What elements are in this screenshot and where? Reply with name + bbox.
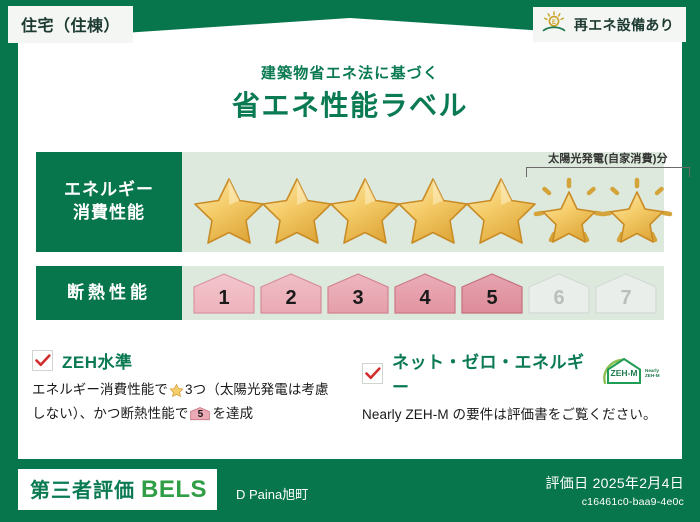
- star-filled: [394, 172, 460, 246]
- label-title: 省エネ性能ラベル: [0, 84, 700, 124]
- insulation-row-label: 断熱性能: [36, 266, 182, 320]
- insulation-row-value: 1 2 3: [182, 266, 664, 320]
- criteria-net-zero-energy: ネット・ゼロ・エネルギー ZEH-M Nearly ZEH-M Nearly Z…: [362, 348, 662, 426]
- criteria-nze-header: ネット・ゼロ・エネルギー ZEH-M Nearly ZEH-M: [362, 348, 662, 398]
- star-filled: [258, 172, 324, 246]
- third-party-label: 第三者評価: [30, 474, 135, 503]
- sun-renewable-icon: E: [541, 11, 567, 38]
- insulation-badge-2: 2: [259, 271, 323, 315]
- bels-energy-label: 住宅（住棟） E 再エネ設備あり 建築物省エネ法に基づく 省エネ性能ラベル: [0, 0, 700, 522]
- criteria-nze-body: Nearly ZEH-M の要件は評価書をご覧ください。: [362, 405, 662, 426]
- zeh-m-logo-text: ZEH-M: [611, 368, 638, 378]
- energy-row-label-line2: 消費性能: [64, 202, 154, 225]
- energy-row-label: エネルギー 消費性能: [36, 152, 182, 252]
- criteria-zeh-star-count: 3つ: [185, 382, 206, 397]
- insulation-badge-7: 7: [594, 271, 658, 315]
- inline-badge-value: 5: [190, 407, 210, 423]
- insulation-level-label: 6: [553, 287, 564, 315]
- energy-row-value: 太陽光発電(自家消費)分: [182, 152, 664, 252]
- criteria-zeh-title: ZEH水準: [62, 348, 133, 373]
- document-id: c16461c0-baa9-4e0c: [545, 496, 684, 508]
- insulation-level-label: 4: [419, 287, 430, 315]
- insulation-level-list: 1 2 3: [182, 266, 664, 320]
- label-subtitle: 建築物省エネ法に基づく: [0, 62, 700, 83]
- insulation-performance-row: 断熱性能 1 2: [36, 266, 664, 320]
- insulation-level-label: 7: [620, 287, 631, 315]
- criteria-nze-title: ネット・ゼロ・エネルギー: [392, 348, 586, 398]
- criteria-zeh-body-part1: エネルギー消費性能で: [32, 382, 168, 397]
- energy-row-label-line1: エネルギー: [64, 179, 154, 202]
- renewable-badge-label: 再エネ設備あり: [574, 15, 674, 35]
- criteria-zeh-body-part3: を達成: [212, 406, 253, 421]
- insulation-badge-4: 4: [393, 271, 457, 315]
- check-icon: [35, 354, 51, 367]
- building-name: D Paina旭町: [236, 484, 308, 503]
- insulation-level-label: 1: [218, 287, 229, 315]
- evaluation-date: 評価日 2025年2月4日: [545, 473, 684, 493]
- checkbox-zeh-standard[interactable]: [32, 350, 53, 371]
- star-filled: [190, 172, 256, 246]
- insulation-badge-6: 6: [527, 271, 591, 315]
- renewable-equipment-badge: E 再エネ設備あり: [533, 7, 686, 42]
- criteria-zeh-standard: ZEH水準 エネルギー消費性能で3つ（太陽光発電は考慮しない）、かつ断熱性能で5…: [32, 348, 332, 425]
- star-rating: [182, 152, 664, 252]
- insulation-level-label: 5: [486, 287, 497, 315]
- insulation-badge-1: 1: [192, 271, 256, 315]
- check-icon: [365, 367, 381, 380]
- criteria-zeh-body: エネルギー消費性能で3つ（太陽光発電は考慮しない）、かつ断熱性能で5を達成: [32, 380, 332, 425]
- criteria-zeh-header: ZEH水準: [32, 348, 332, 373]
- star-filled: [462, 172, 528, 246]
- document-type-tag: 住宅（住棟）: [8, 6, 133, 43]
- zeh-m-logo-icon: ZEH-M Nearly ZEH-M: [600, 356, 662, 391]
- insulation-badge-5: 5: [460, 271, 524, 315]
- insulation-level-label: 3: [352, 287, 363, 315]
- insulation-badge-3: 3: [326, 271, 390, 315]
- inline-insulation-badge: 5: [190, 406, 210, 421]
- insulation-level-label: 2: [285, 287, 296, 315]
- footer-meta: 評価日 2025年2月4日 c16461c0-baa9-4e0c: [545, 473, 684, 508]
- energy-performance-row: エネルギー 消費性能 太陽光発電(自家消費)分: [36, 152, 664, 252]
- svg-text:E: E: [552, 20, 556, 26]
- star-solar-sparkle: [530, 172, 596, 246]
- inline-star-icon: [169, 385, 184, 400]
- third-party-evaluation-box: 第三者評価 BELS: [18, 469, 217, 510]
- star-solar-sparkle: [598, 172, 664, 246]
- zeh-m-logo-sub2: ZEH-M: [645, 373, 660, 378]
- checkbox-net-zero-energy[interactable]: [362, 363, 383, 384]
- bels-logo-text: BELS: [141, 476, 207, 504]
- star-filled: [326, 172, 392, 246]
